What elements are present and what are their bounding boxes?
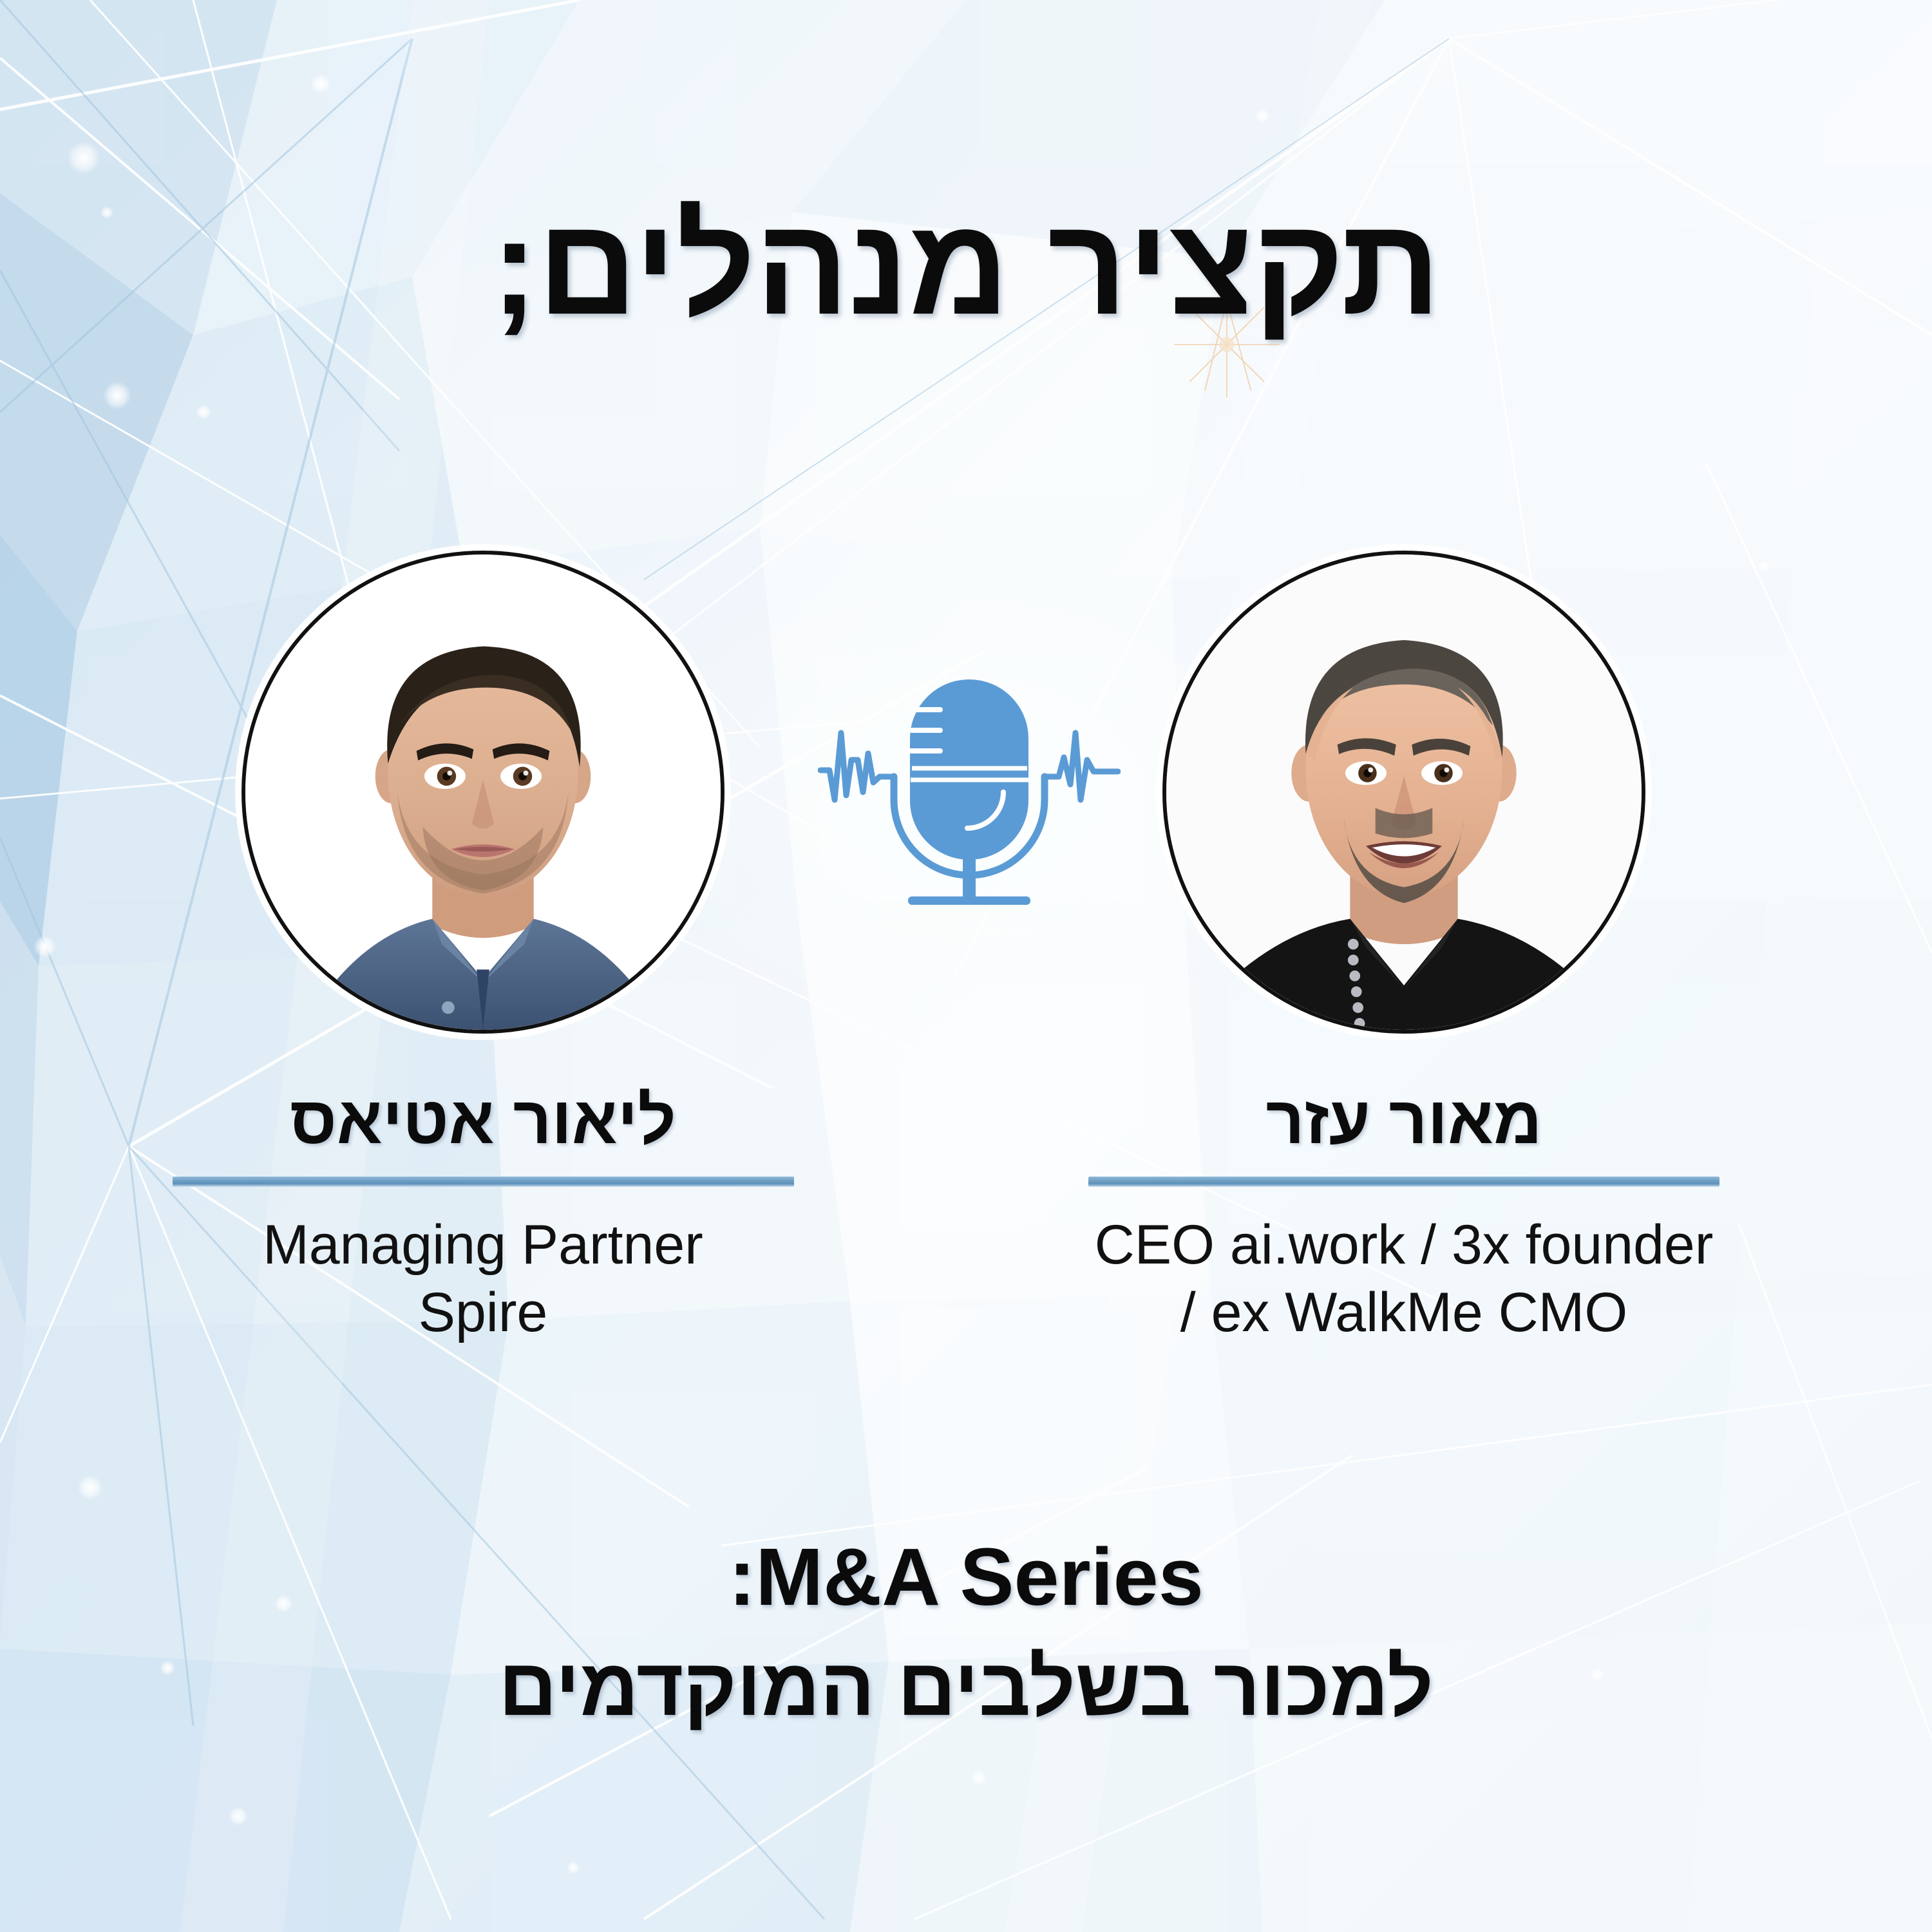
avatar-wrap-right bbox=[1162, 551, 1645, 1034]
speaker-divider bbox=[1088, 1177, 1719, 1187]
podcast-cover: תקציר מנהלים; bbox=[0, 0, 1932, 1932]
series-subtitle: למכור בשלבים המוקדמים bbox=[0, 1640, 1932, 1736]
speaker-name: ליאור אטיאס bbox=[64, 1084, 902, 1157]
portrait-avatar-lior-icon bbox=[245, 554, 721, 1030]
series-title: M&A Series: bbox=[0, 1529, 1932, 1625]
avatar-wrap-left bbox=[241, 551, 724, 1034]
speaker-role: CEO ai.work / 3x founder / ex WalkMe CMO bbox=[985, 1211, 1823, 1347]
speaker-role: Managing Partner Spire bbox=[64, 1211, 902, 1347]
page-title-text: תקציר מנהלים; bbox=[491, 193, 1441, 339]
portrait-avatar-maor-icon bbox=[1166, 554, 1642, 1030]
speaker-card-right: מאור עזר CEO ai.work / 3x founder / ex W… bbox=[985, 551, 1823, 1347]
series-block: M&A Series: למכור בשלבים המוקדמים bbox=[0, 1529, 1932, 1735]
speaker-name: מאור עזר bbox=[985, 1084, 1823, 1157]
page-title: תקציר מנהלים; bbox=[0, 193, 1932, 339]
avatar bbox=[241, 551, 724, 1034]
speaker-divider bbox=[173, 1177, 794, 1187]
speaker-card-left: ליאור אטיאס Managing Partner Spire bbox=[64, 551, 902, 1347]
avatar bbox=[1162, 551, 1645, 1034]
